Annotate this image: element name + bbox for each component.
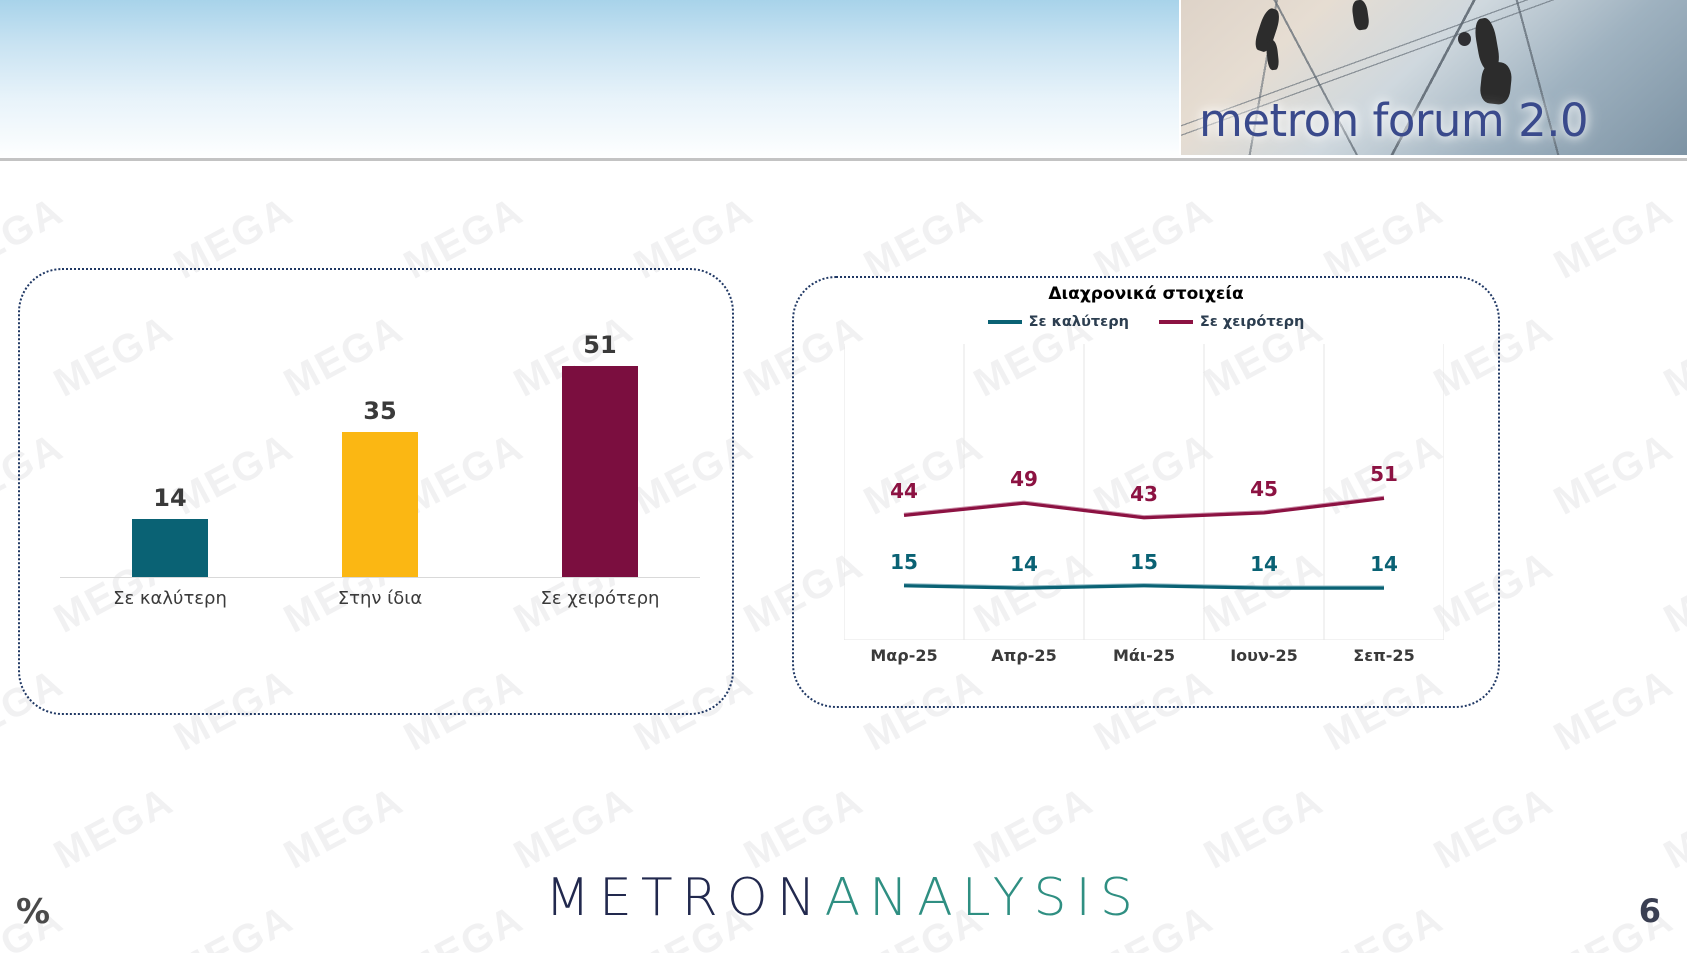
- watermark-text: MEGA: [47, 779, 181, 879]
- data-point-label: 14: [1250, 552, 1278, 576]
- metron-forum-logo: metron forum 2.0: [1179, 0, 1687, 155]
- watermark-text: MEGA: [1657, 307, 1687, 407]
- legend-label: Σε καλύτερη: [1029, 314, 1129, 330]
- bar-value-label: 35: [363, 397, 396, 425]
- watermark-text: MEGA: [1547, 189, 1681, 289]
- header-divider: [0, 158, 1687, 161]
- bar-category-label: Σε καλύτερη: [70, 588, 270, 609]
- line-plot-area: 15141514144449434551: [844, 344, 1444, 640]
- watermark-text: MEGA: [857, 189, 991, 289]
- bar-category-label: Στην ίδια: [280, 588, 480, 609]
- bar-rect[interactable]: [132, 519, 208, 577]
- watermark-text: MEGA: [1087, 189, 1221, 289]
- watermark-text: MEGA: [967, 779, 1101, 879]
- bar-column[interactable]: 51: [562, 331, 638, 577]
- percent-unit-label: %: [16, 892, 50, 932]
- logo-wordmark: metron forum 2.0: [1199, 94, 1588, 147]
- watermark-text: MEGA: [1657, 779, 1687, 879]
- watermark-text: MEGA: [1547, 425, 1681, 525]
- brand-analysis: ANALYSIS: [825, 868, 1142, 928]
- legend-entry[interactable]: Σε χειρότερη: [1159, 314, 1304, 330]
- logo-dot-icon: [1458, 32, 1471, 46]
- watermark-text: MEGA: [1427, 779, 1561, 879]
- brand-metron: METRON: [545, 868, 824, 928]
- bar-chart: 143551 Σε καλύτερηΣτην ίδιαΣε χειρότερη: [60, 330, 700, 630]
- data-point-label: 43: [1130, 482, 1158, 506]
- data-point-label: 14: [1370, 552, 1398, 576]
- data-point-label: 15: [890, 550, 918, 574]
- legend-swatch: [1159, 320, 1193, 324]
- watermark-text: MEGA: [277, 779, 411, 879]
- bar-rect[interactable]: [562, 366, 638, 577]
- bar-value-label: 51: [583, 331, 616, 359]
- slide-canvas: Προσωπική κατάσταση σε σχέση με ένα χρόν…: [0, 0, 1687, 953]
- data-point-label: 14: [1010, 552, 1038, 576]
- bar-plot-area: 143551: [60, 330, 700, 578]
- watermark-text: MEGA: [507, 779, 641, 879]
- data-point-label: 15: [1130, 550, 1158, 574]
- watermark-text: MEGA: [1197, 779, 1331, 879]
- x-axis-tick-label: Μαρ-25: [870, 646, 937, 665]
- bar-column[interactable]: 35: [342, 397, 418, 577]
- data-point-label: 45: [1250, 477, 1278, 501]
- x-axis-tick-label: Μάι-25: [1113, 646, 1175, 665]
- legend-label: Σε χειρότερη: [1200, 314, 1304, 330]
- line-chart-legend: Σε καλύτερηΣε χειρότερη: [792, 314, 1500, 330]
- page-number: 6: [1639, 892, 1661, 930]
- watermark-text: MEGA: [1657, 543, 1687, 643]
- watermark-text: MEGA: [737, 779, 871, 879]
- legend-entry[interactable]: Σε καλύτερη: [988, 314, 1129, 330]
- data-point-label: 44: [890, 479, 918, 503]
- watermark-text: MEGA: [1547, 661, 1681, 761]
- bar-value-label: 14: [153, 484, 186, 512]
- line-x-axis: Μαρ-25Απρ-25Μάι-25Ιουν-25Σεπ-25: [844, 646, 1444, 676]
- bar-axis-baseline: [60, 577, 700, 578]
- bar-rect[interactable]: [342, 432, 418, 577]
- legend-swatch: [988, 320, 1022, 324]
- x-axis-tick-label: Απρ-25: [991, 646, 1056, 665]
- bar-category-label: Σε χειρότερη: [500, 588, 700, 609]
- x-axis-tick-label: Σεπ-25: [1353, 646, 1414, 665]
- line-chart-title: Διαχρονικά στοιχεία: [792, 284, 1500, 304]
- data-point-label: 51: [1370, 462, 1398, 486]
- metron-analysis-logo: METRONANALYSIS: [0, 868, 1687, 928]
- bar-column[interactable]: 14: [132, 484, 208, 577]
- line-chart: Διαχρονικά στοιχεία Σε καλύτερηΣε χειρότ…: [792, 276, 1500, 708]
- data-point-label: 49: [1010, 467, 1038, 491]
- x-axis-tick-label: Ιουν-25: [1230, 646, 1298, 665]
- watermark-text: MEGA: [1317, 189, 1451, 289]
